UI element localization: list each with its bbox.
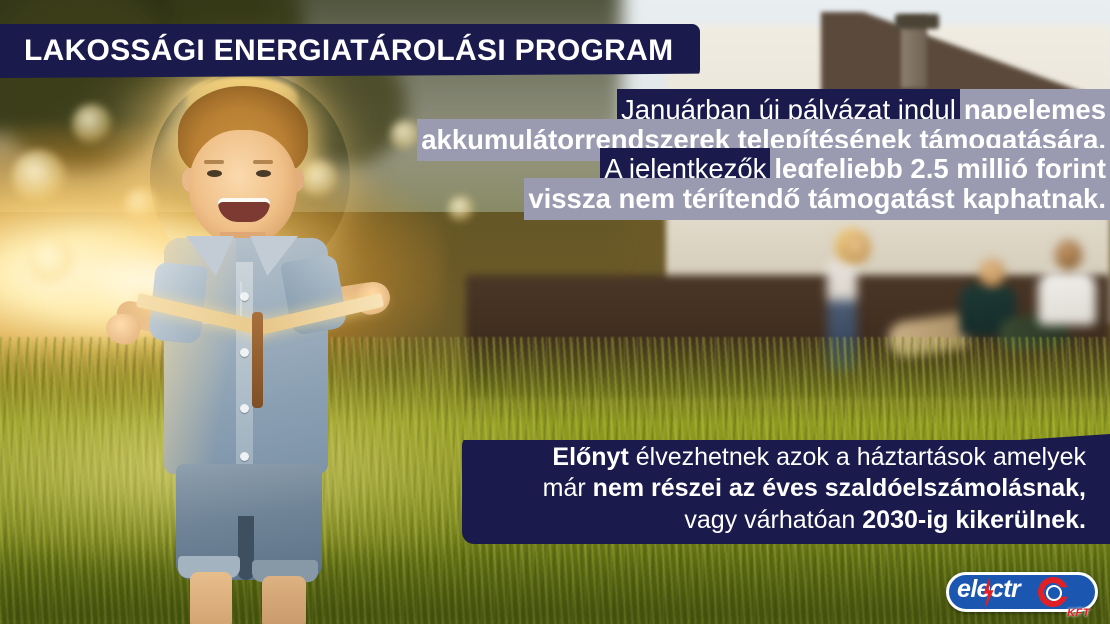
shirt-button [240,404,249,413]
chimney-cap [895,14,939,29]
callout-emphasis: nem részei az éves szaldóelszámolásnak, [593,474,1086,502]
shirt-button [240,452,249,461]
toy-plane-fuselage [252,312,263,408]
bokeh-light [12,150,66,204]
logo-suffix: KFT [1067,607,1090,619]
callout-line: már nem részei az éves szaldóelszámolásn… [543,473,1086,505]
callout-regular: már [543,474,593,502]
benefit-callout-box: Előnyt élvezhetnek azok a háztartások am… [462,434,1110,544]
boy-right-eye [256,170,271,177]
shirt-button [240,348,249,357]
boy-right-eyebrow [253,160,273,164]
background-person-head [1055,240,1082,270]
logo-word-part2: lectr [970,575,1020,603]
callout-line: vagy várhatóan 2030-ig kikerülnek. [543,505,1086,537]
callout-text: Előnyt élvezhetnek azok a háztartások am… [517,442,1110,537]
background-person-head [844,234,870,262]
callout-emphasis: Előnyt [552,443,628,471]
poster-canvas: LAKOSSÁGI ENERGIATÁROLÁSI PROGRAM Január… [0,0,1110,624]
page-title: LAKOSSÁGI ENERGIATÁROLÁSI PROGRAM [0,34,673,68]
background-person-torso [1038,271,1096,325]
callout-regular: vagy várhatóan [684,506,862,534]
logo-word-part1: e [957,575,970,603]
logo-wordmark: electrol [957,577,1041,602]
house-roof [821,12,1110,99]
lead-paragraph: Januárban új pályázat indulnapelemes akk… [326,96,1110,214]
lead-line: vissza nem térítendő támogatást kaphatna… [326,185,1110,213]
boy-right-leg [262,576,306,624]
boy-face [189,130,297,246]
boy-left-leg [190,572,232,624]
electrool-logo[interactable]: electrol KFT [946,568,1098,618]
callout-line: Előnyt élvezhetnek azok a háztartások am… [543,442,1086,474]
lead-segment: vissza nem térítendő támogatást kaphatna… [524,178,1110,220]
boy-left-eye [207,170,222,177]
callout-emphasis: 2030-ig kikerülnek. [862,506,1086,534]
callout-regular: élvezhetnek azok a háztartások amelyek [629,443,1086,471]
background-person-head [979,259,1005,287]
boy-left-eyebrow [204,160,224,164]
bokeh-light [28,238,74,284]
program-title-banner: LAKOSSÁGI ENERGIATÁROLÁSI PROGRAM [0,24,700,78]
logo-ring-center-icon [1046,585,1062,601]
